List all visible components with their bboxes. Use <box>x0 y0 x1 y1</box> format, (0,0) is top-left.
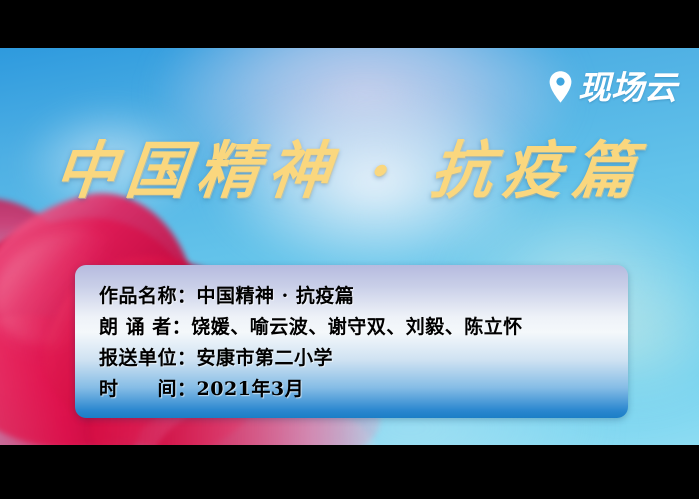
video-player-stage: 现场云 中国精神 · 抗疫篇 作品名称：中国精神 · 抗疫篇 朗 诵 者：饶媛、… <box>0 0 699 499</box>
info-line-submitting-unit: 报送单位：安康市第二小学 <box>99 343 618 374</box>
slide-info-panel: 作品名称：中国精神 · 抗疫篇 朗 诵 者：饶媛、喻云波、谢守双、刘毅、陈立怀 … <box>75 265 628 418</box>
letterbox-bar-bottom <box>0 445 699 499</box>
watermark-logo-text: 现场云 <box>578 71 677 104</box>
flower-petal <box>0 198 70 348</box>
location-pin-icon <box>547 70 574 104</box>
info-line-reciters: 朗 诵 者：饶媛、喻云波、谢守双、刘毅、陈立怀 <box>99 312 618 343</box>
info-line-work-title: 作品名称：中国精神 · 抗疫篇 <box>99 281 618 312</box>
slide-main-title: 中国精神 · 抗疫篇 <box>0 132 699 210</box>
info-line-date: 时 间：2021年3月 <box>99 374 618 405</box>
slide-info-lines: 作品名称：中国精神 · 抗疫篇 朗 诵 者：饶媛、喻云波、谢守双、刘毅、陈立怀 … <box>99 281 618 405</box>
letterbox-bar-top <box>0 0 699 48</box>
slide-frame: 现场云 中国精神 · 抗疫篇 作品名称：中国精神 · 抗疫篇 朗 诵 者：饶媛、… <box>0 48 699 445</box>
watermark-logo: 现场云 <box>547 70 677 104</box>
